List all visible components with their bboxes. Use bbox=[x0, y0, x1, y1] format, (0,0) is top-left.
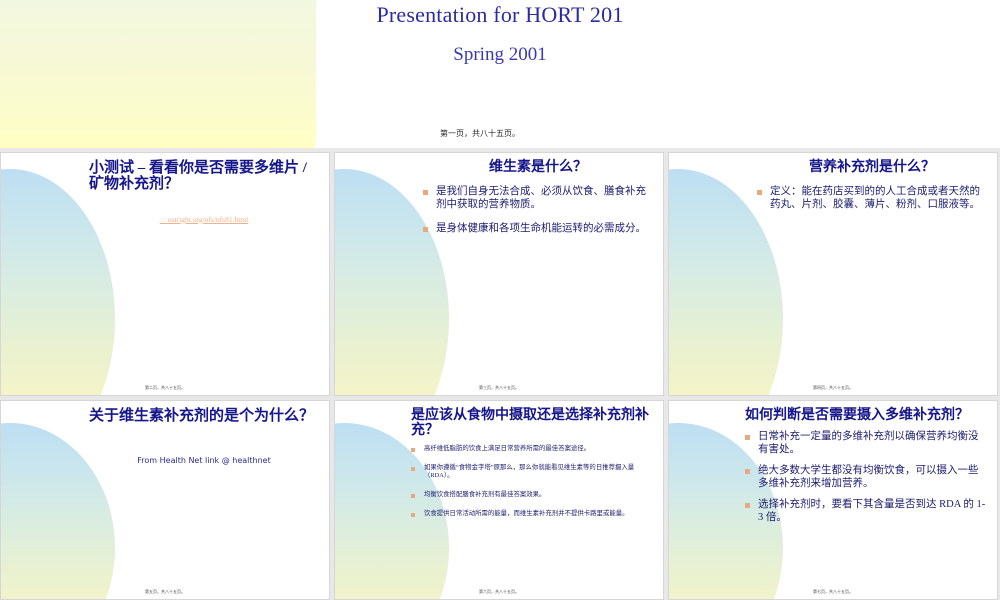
slide-footer: 第六页，共八十五页。 bbox=[335, 589, 663, 595]
slide-credit: From Health Net link @ healthnet bbox=[89, 455, 319, 468]
list-item: 均衡饮食搭配膳食补充剂有最佳答案效果。 bbox=[411, 491, 653, 499]
slide-title: 维生素是什么？ bbox=[423, 161, 653, 176]
slide-footer: 第四页，共八十五页。 bbox=[669, 385, 997, 391]
slide-title: 如何判断是否需要摄入多维补充剂？ bbox=[745, 409, 987, 424]
slide-footer: 第二页，共八十五页。 bbox=[1, 385, 329, 391]
page-subtitle: Spring 2001 bbox=[0, 44, 1000, 66]
slide-bullet-list: 是我们自身无法合成、必须从饮食、膳食补充剂中获取的营养物质。 是身体健康和各项生… bbox=[423, 185, 653, 235]
slide-grid: 小测试 ‒ 看看你是否需要多维片 / 矿物补充剂？ :// eatright.o… bbox=[0, 148, 1000, 600]
list-item: 绝大多数大学生都没有均衡饮食，可以摄入一些多维补充剂来增加营养。 bbox=[745, 464, 987, 490]
slide-thumbnail-food-or-supplement[interactable]: 是应该从食物中摄取还是选择补充剂补充？ 高纤维低脂肪的饮食上满足日常营养所需的最… bbox=[334, 400, 664, 600]
list-item: 选择补充剂时，要看下其含量是否到达 RDA 的 1-3 倍。 bbox=[745, 498, 987, 524]
header-page-footer: 第一页，共八十五页。 bbox=[440, 128, 520, 139]
slide-thumbnail-what-is-vitamin[interactable]: 维生素是什么？ 是我们自身无法合成、必须从饮食、膳食补充剂中获取的营养物质。 是… bbox=[334, 152, 664, 396]
list-item: 日常补充一定量的多维补充剂以确保营养均衡没有害处。 bbox=[745, 430, 987, 456]
presentation-header: Presentation for HORT 201 Spring 2001 第一… bbox=[0, 0, 1000, 148]
slide-bullet-list: 定义：能在药店买到的的人工合成或者天然的药丸、片剂、胶囊、薄片、粉剂、口服液等。 bbox=[757, 185, 987, 211]
eatright-link[interactable]: :// eatright.org/nfs/nfs81.html bbox=[89, 215, 319, 224]
slide-thumbnail-quiz[interactable]: 小测试 ‒ 看看你是否需要多维片 / 矿物补充剂？ :// eatright.o… bbox=[0, 152, 330, 396]
slide-title: 关于维生素补充剂的是个为什么？ bbox=[89, 409, 319, 425]
list-item: 定义：能在药店买到的的人工合成或者天然的药丸、片剂、胶囊、薄片、粉剂、口服液等。 bbox=[757, 185, 987, 211]
list-item: 是身体健康和各项生命机能运转的必需成分。 bbox=[423, 222, 653, 235]
slide-thumbnail-how-to-judge[interactable]: 如何判断是否需要摄入多维补充剂？ 日常补充一定量的多维补充剂以确保营养均衡没有害… bbox=[668, 400, 998, 600]
slide-title: 小测试 ‒ 看看你是否需要多维片 / 矿物补充剂？ bbox=[89, 161, 319, 193]
list-item: 高纤维低脂肪的饮食上满足日常营养所需的最佳答案途径。 bbox=[411, 445, 653, 453]
slide-title: 营养补充剂是什么？ bbox=[757, 161, 987, 176]
page-title: Presentation for HORT 201 bbox=[0, 2, 1000, 28]
slide-footer: 第七页，共八十五页。 bbox=[669, 589, 997, 595]
slide-bullet-list: 高纤维低脂肪的饮食上满足日常营养所需的最佳答案途径。 如果你遵循“食物金字塔”原… bbox=[411, 445, 653, 518]
list-item: 饮食提供日常活动所需的能量，而维生素补充剂并不提供卡路里或能量。 bbox=[411, 510, 653, 518]
slide-title: 是应该从食物中摄取还是选择补充剂补充？ bbox=[411, 409, 653, 438]
slide-bullet-list: 日常补充一定量的多维补充剂以确保营养均衡没有害处。 绝大多数大学生都没有均衡饮食… bbox=[745, 430, 987, 525]
slide-footer: 第五页，共八十五页。 bbox=[1, 589, 329, 595]
list-item: 是我们自身无法合成、必须从饮食、膳食补充剂中获取的营养物质。 bbox=[423, 185, 653, 211]
link-prefix: :// bbox=[160, 215, 166, 224]
slide-thumbnail-what-is-supplement[interactable]: 营养补充剂是什么？ 定义：能在药店买到的的人工合成或者天然的药丸、片剂、胶囊、薄… bbox=[668, 152, 998, 396]
list-item: 如果你遵循“食物金字塔”原那么，那么你就能看见维生素等的日推荐摄入量（RDA）。 bbox=[411, 464, 653, 480]
slide-footer: 第三页，共八十五页。 bbox=[335, 385, 663, 391]
link-text: eatright.org/nfs/nfs81.html bbox=[168, 215, 248, 224]
slide-thumbnail-why-supplements[interactable]: 关于维生素补充剂的是个为什么？ From Health Net link @ h… bbox=[0, 400, 330, 600]
